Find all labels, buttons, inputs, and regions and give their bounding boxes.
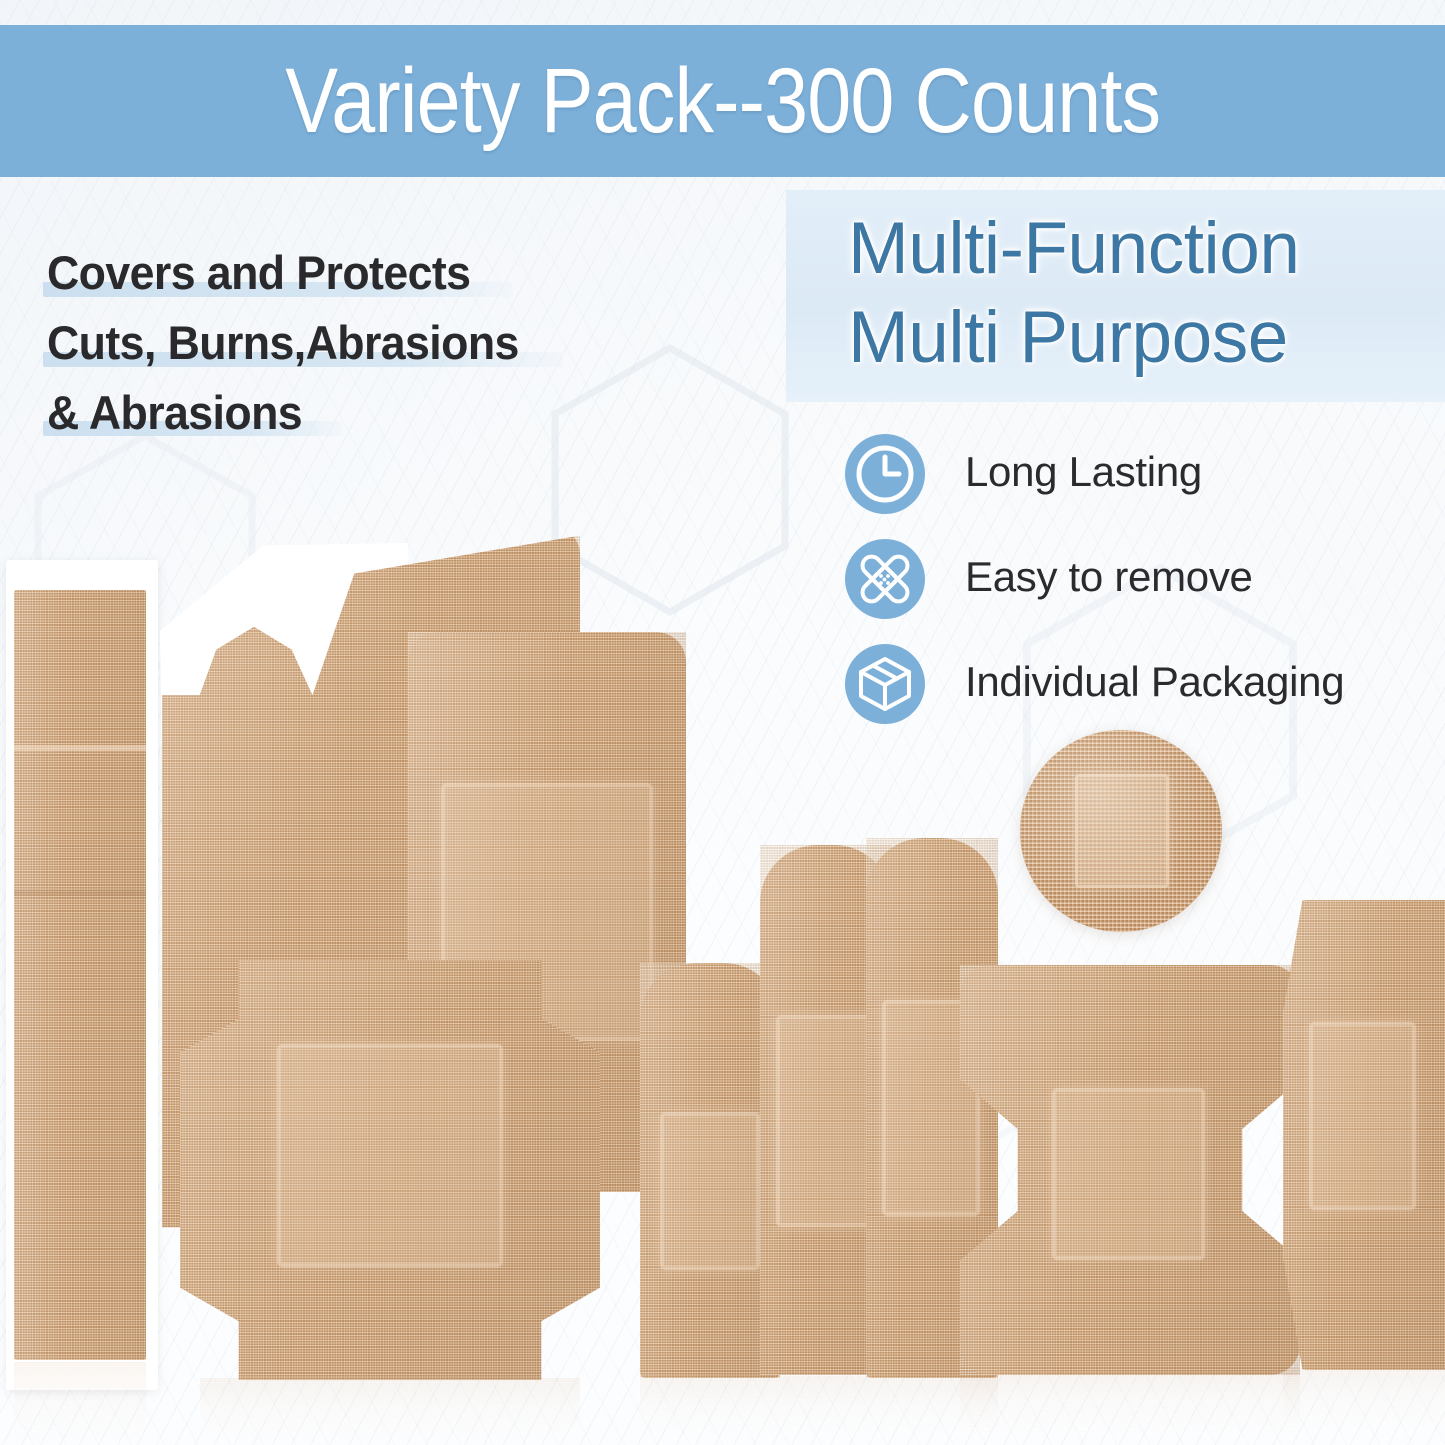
headline-line-1: Multi-Function <box>848 204 1299 293</box>
feature-list: Long Lasting Easy to remove <box>845 432 1445 747</box>
benefit-line: & Abrasions <box>47 388 657 438</box>
headline-line-2: Multi Purpose <box>848 293 1299 382</box>
clock-icon <box>845 434 925 514</box>
benefit-line-text: & Abrasions <box>47 388 302 438</box>
bandage-reflection <box>640 1376 998 1434</box>
bandage-knuckle-2 <box>1283 900 1445 1370</box>
feature-label: Easy to remove <box>965 537 1253 617</box>
feature-item-individual-packaging: Individual Packaging <box>845 642 1445 747</box>
title-banner: Variety Pack--300 Counts <box>0 25 1445 177</box>
bandage-reflection <box>200 1378 580 1440</box>
bandage-reflection <box>1283 1368 1445 1430</box>
magnified-bandage-detail <box>1020 730 1222 932</box>
feature-item-easy-remove: Easy to remove <box>845 537 1445 642</box>
feature-label: Individual Packaging <box>965 642 1344 722</box>
feature-item-long-lasting: Long Lasting <box>845 432 1445 537</box>
feature-label: Long Lasting <box>965 432 1202 512</box>
bandage-butterfly-large <box>180 960 600 1380</box>
bandage-strip-vertical-left <box>14 590 146 1360</box>
bandage-strip-mid-1 <box>640 963 780 1378</box>
benefit-copy-block: Covers and Protects Cuts, Burns,Abrasion… <box>47 248 657 457</box>
product-infographic: Variety Pack--300 Counts Covers and Prot… <box>0 0 1445 1445</box>
package-box-icon <box>845 644 925 724</box>
bandage-reflection <box>14 1362 146 1440</box>
page-title: Variety Pack--300 Counts <box>285 55 1160 147</box>
benefit-line-text: Cuts, Burns,Abrasions <box>47 318 519 368</box>
bandage-reflection <box>960 1373 1300 1435</box>
benefit-line: Covers and Protects <box>47 248 657 298</box>
headline-panel: Multi-Function Multi Purpose <box>786 190 1445 402</box>
benefit-line: Cuts, Burns,Abrasions <box>47 318 657 368</box>
crossed-bandages-icon <box>845 539 925 619</box>
benefit-line-text: Covers and Protects <box>47 248 470 298</box>
